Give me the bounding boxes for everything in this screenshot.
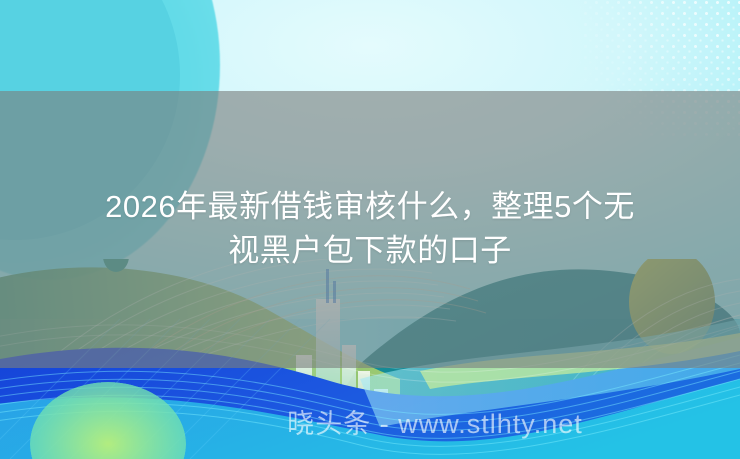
site-watermark: 晓头条 - www.stlhty.net [0, 402, 740, 441]
page-title-line-2: 视黑户包下款的口子 [26, 229, 714, 273]
page-title-line-1: 2026年最新借钱审核什么，整理5个无 [26, 185, 714, 229]
decorative-dot-pattern-top-right [580, 0, 740, 136]
cover-image-canvas: 2026年最新借钱审核什么，整理5个无 视黑户包下款的口子 晓头条 - www.… [0, 0, 740, 459]
page-title: 2026年最新借钱审核什么，整理5个无 视黑户包下款的口子 [0, 185, 740, 273]
